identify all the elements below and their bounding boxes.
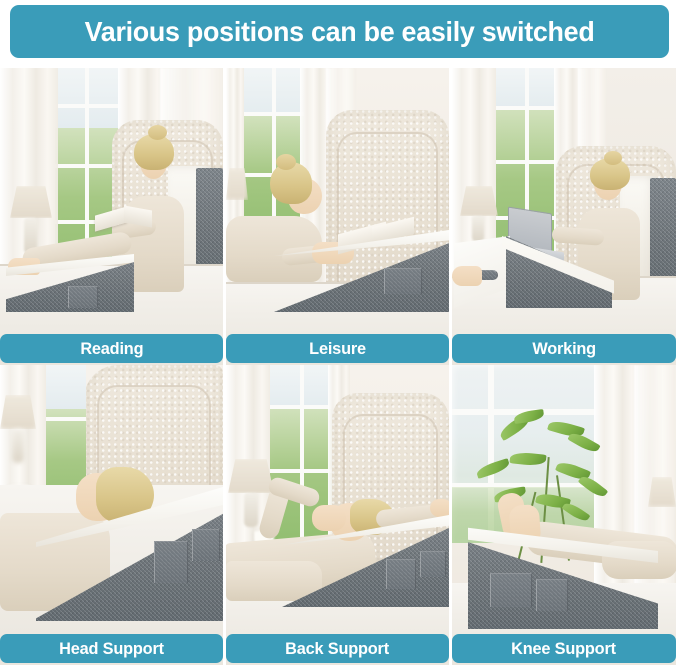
tile-working[interactable]: Working <box>452 68 679 365</box>
label-bar-back-support: Back Support <box>226 634 449 663</box>
tile-back-support[interactable]: Back Support <box>226 365 452 665</box>
label-bar-working: Working <box>452 334 676 363</box>
label-bar-leisure: Leisure <box>226 334 449 363</box>
label-reading: Reading <box>80 339 143 359</box>
photo-working <box>452 68 676 365</box>
photo-head-support <box>0 365 223 665</box>
label-knee-support: Knee Support <box>512 639 617 659</box>
tile-leisure[interactable]: Leisure <box>226 68 452 365</box>
label-back-support: Back Support <box>286 639 390 659</box>
photo-back-support <box>226 365 449 665</box>
tile-head-support[interactable]: Head Support <box>0 365 226 665</box>
label-head-support: Head Support <box>59 639 164 659</box>
label-bar-head-support: Head Support <box>0 634 223 663</box>
product-infographic: Various positions can be easily switched <box>0 0 679 665</box>
position-grid: Reading <box>0 68 679 665</box>
photo-leisure <box>226 68 449 365</box>
header-banner: Various positions can be easily switched <box>10 5 669 58</box>
label-leisure: Leisure <box>309 339 366 359</box>
label-bar-reading: Reading <box>0 334 223 363</box>
header-title: Various positions can be easily switched <box>85 16 595 48</box>
tile-reading[interactable]: Reading <box>0 68 226 365</box>
label-bar-knee-support: Knee Support <box>452 634 676 663</box>
photo-reading <box>0 68 223 365</box>
label-working: Working <box>532 339 596 359</box>
tile-knee-support[interactable]: Knee Support <box>452 365 679 665</box>
photo-knee-support <box>452 365 676 665</box>
